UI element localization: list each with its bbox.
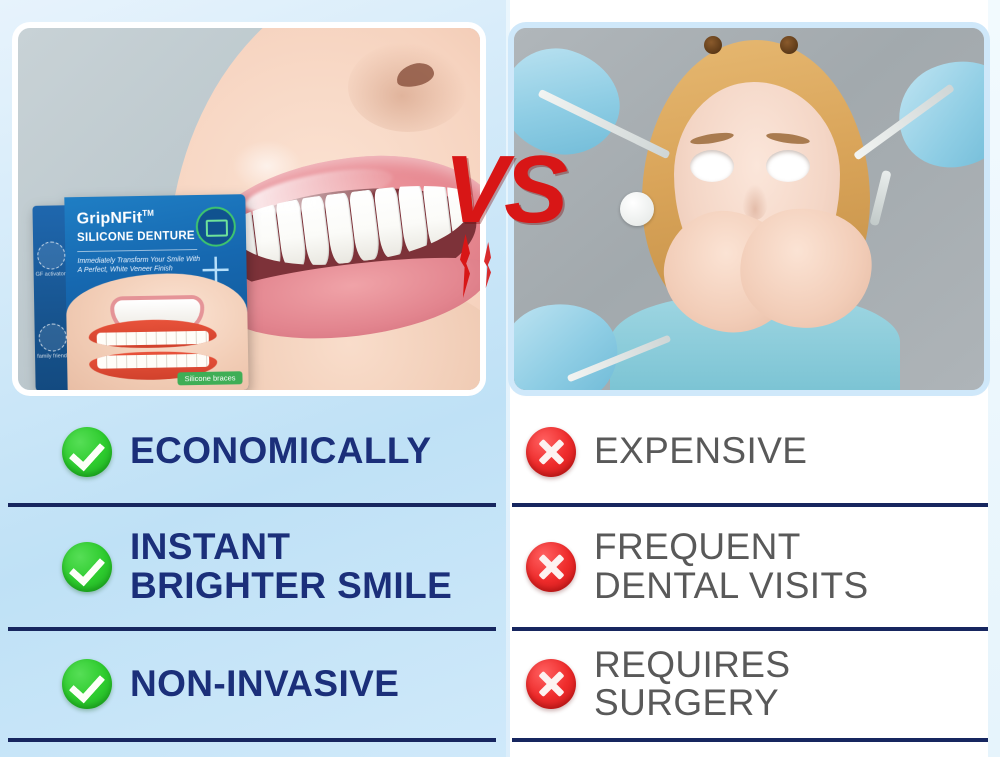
package-seal-caption: family friend bbox=[35, 353, 69, 361]
pro-label: INSTANT BRIGHTER SMILE bbox=[130, 528, 452, 604]
product-tagline: Immediately Transform Your Smile With A … bbox=[77, 255, 205, 276]
comparison-row: NON-INVASIVE REQUIRES SURGERY bbox=[0, 630, 1000, 738]
check-icon bbox=[62, 542, 112, 592]
brand-text: GripNFit bbox=[77, 209, 143, 227]
row-divider bbox=[8, 503, 496, 507]
package-ribbon-label: Silicone braces bbox=[178, 371, 243, 385]
check-icon bbox=[62, 427, 112, 477]
nose-illustration bbox=[348, 42, 468, 132]
check-icon bbox=[62, 659, 112, 709]
pro-item-non-invasive: NON-INVASIVE bbox=[0, 630, 506, 738]
con-label: FREQUENT DENTAL VISITS bbox=[594, 528, 869, 604]
package-seal-caption: GF activator bbox=[34, 271, 68, 279]
package-rule bbox=[77, 249, 197, 252]
trademark-symbol: TM bbox=[142, 209, 154, 218]
comparison-rows: ECONOMICALLY EXPENSIVE INSTANT BRIGHTER … bbox=[0, 400, 1000, 757]
row-divider bbox=[512, 503, 988, 507]
left-product-photo: GF activator family friend GripNFitTM SI… bbox=[18, 28, 480, 390]
pro-item-instant-brighter-smile: INSTANT BRIGHTER SMILE bbox=[0, 506, 506, 627]
upper-denture bbox=[88, 319, 216, 349]
right-dentist-photo bbox=[514, 28, 984, 390]
row-divider bbox=[8, 738, 496, 742]
eye-right bbox=[766, 150, 810, 182]
con-item-requires-surgery: REQUIRES SURGERY bbox=[506, 630, 1000, 738]
package-seal-badge bbox=[39, 323, 67, 351]
row-divider bbox=[8, 627, 496, 631]
pro-label: ECONOMICALLY bbox=[130, 432, 432, 470]
con-label: EXPENSIVE bbox=[594, 432, 807, 470]
comparison-poster: GF activator family friend GripNFitTM SI… bbox=[0, 0, 1000, 757]
cross-icon bbox=[526, 659, 576, 709]
product-brand-name: GripNFitTM bbox=[77, 209, 155, 229]
comparison-row: INSTANT BRIGHTER SMILE FREQUENT DENTAL V… bbox=[0, 506, 1000, 627]
con-item-frequent-dental-visits: FREQUENT DENTAL VISITS bbox=[506, 506, 1000, 627]
iris-left bbox=[704, 36, 722, 54]
cross-icon bbox=[526, 542, 576, 592]
braces-badge-icon bbox=[195, 206, 236, 247]
row-divider bbox=[512, 738, 988, 742]
cross-icon bbox=[526, 427, 576, 477]
comparison-row: ECONOMICALLY EXPENSIVE bbox=[0, 400, 1000, 503]
package-front-panel: GripNFitTM SILICONE DENTURE SET Immediat… bbox=[64, 194, 248, 390]
product-package: GF activator family friend GripNFitTM SI… bbox=[32, 194, 248, 390]
package-seal-badge bbox=[37, 241, 65, 269]
pro-item-economically: ECONOMICALLY bbox=[0, 400, 506, 503]
con-item-expensive: EXPENSIVE bbox=[506, 400, 1000, 503]
iris-right bbox=[780, 36, 798, 54]
con-label: REQUIRES SURGERY bbox=[594, 646, 790, 722]
row-divider bbox=[512, 627, 988, 631]
eye-left bbox=[690, 150, 734, 182]
dental-mirror-head bbox=[620, 192, 654, 226]
pro-label: NON-INVASIVE bbox=[130, 665, 399, 703]
